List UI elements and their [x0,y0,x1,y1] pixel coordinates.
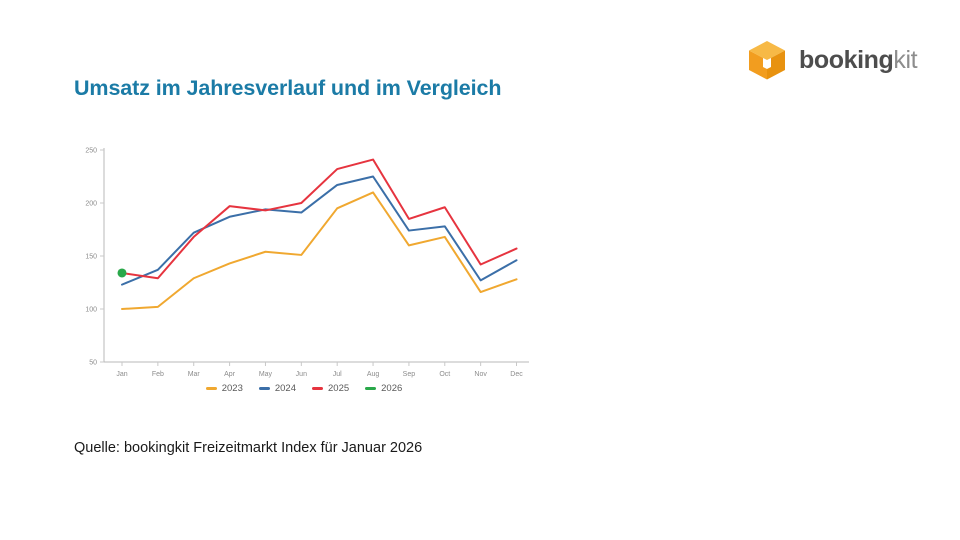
y-tick-label: 150 [85,254,97,261]
logo-word-primary: booking [799,46,893,74]
legend-swatch-icon [365,387,376,390]
page-title: Umsatz im Jahresverlauf und im Vergleich [74,76,501,101]
x-tick-label: Nov [474,371,487,378]
bookingkit-logo: bookingkit [745,38,917,82]
cube-icon [745,38,789,82]
x-tick-label: Sep [403,371,416,378]
logo-wordmark: bookingkit [799,48,917,73]
y-tick-label: 100 [85,307,97,314]
chart-series [122,160,517,309]
logo-word-secondary: kit [893,46,917,74]
legend-swatch-icon [312,387,323,390]
x-tick-label: Apr [224,371,236,378]
x-tick-label: Aug [367,371,380,378]
chart-canvas: 50100150200250 JanFebMarAprMayJunJulAugS… [74,140,534,390]
series-line-2025 [122,160,517,279]
legend-label: 2023 [222,384,243,394]
x-tick-label: Jun [296,371,307,378]
x-tick-label: Jan [116,371,127,378]
legend-item-2026[interactable]: 2026 [365,384,402,394]
legend-label: 2026 [381,384,402,394]
x-tick-label: Dec [510,371,523,378]
legend-item-2023[interactable]: 2023 [206,384,243,394]
legend-swatch-icon [206,387,217,390]
legend-label: 2025 [328,384,349,394]
y-axis: 50100150200250 [85,148,104,367]
line-chart: 50100150200250 JanFebMarAprMayJunJulAugS… [74,140,534,402]
x-tick-label: Mar [188,371,201,378]
x-tick-label: Feb [152,371,164,378]
x-tick-label: May [259,371,273,378]
y-tick-label: 250 [85,148,97,155]
x-tick-label: Oct [439,371,450,378]
legend-swatch-icon [259,387,270,390]
x-axis: JanFebMarAprMayJunJulAugSepOctNovDec [104,362,529,378]
chart-legend: 2023202420252026 [74,384,534,394]
y-tick-label: 50 [89,360,97,367]
source-note: Quelle: bookingkit Freizeitmarkt Index f… [74,440,422,456]
chart-markers [118,268,127,277]
legend-item-2025[interactable]: 2025 [312,384,349,394]
legend-item-2024[interactable]: 2024 [259,384,296,394]
series-marker-2026 [118,268,127,277]
legend-label: 2024 [275,384,296,394]
y-tick-label: 200 [85,201,97,208]
x-tick-label: Jul [333,371,342,378]
